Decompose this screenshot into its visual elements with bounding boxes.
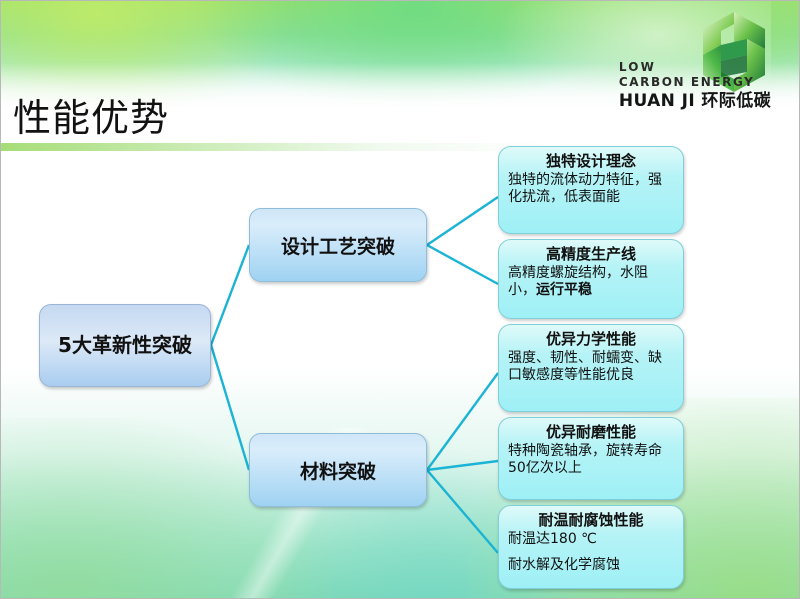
node-branch-material[interactable]: 材料突破 — [249, 433, 427, 507]
card-body: 强度、韧性、耐蠕变、缺口敏感度等性能优良 — [508, 350, 674, 383]
card-excellent-wear-resistance[interactable]: 优异耐磨性能 特种陶瓷轴承，旋转寿命50亿次以上 — [498, 417, 684, 500]
card-body: 独特的流体动力特征，强化扰流，低表面能 — [508, 172, 674, 205]
card-body: 耐温达180 ℃ 耐水解及化学腐蚀 — [508, 531, 674, 574]
card-title: 优异力学性能 — [508, 330, 674, 348]
card-title: 优异耐磨性能 — [508, 423, 674, 441]
card-body-line-2: 耐水解及化学腐蚀 — [508, 557, 674, 574]
card-body-line-1: 耐温达180 ℃ — [508, 531, 674, 548]
slide-canvas: LOW CARBON ENERGY HUAN JI 环际低碳 性能优势 5大革新… — [0, 0, 800, 599]
node-branch-design-process[interactable]: 设计工艺突破 — [249, 208, 427, 282]
card-high-precision-line[interactable]: 高精度生产线 高精度螺旋结构，水阻小，运行平稳 — [498, 239, 684, 319]
card-body-emphasis: 运行平稳 — [536, 282, 592, 298]
card-title: 独特设计理念 — [508, 152, 674, 170]
card-body: 高精度螺旋结构，水阻小，运行平稳 — [508, 265, 674, 298]
card-unique-design-concept[interactable]: 独特设计理念 独特的流体动力特征，强化扰流，低表面能 — [498, 146, 684, 234]
card-title: 耐温耐腐蚀性能 — [508, 511, 674, 529]
card-excellent-mechanical[interactable]: 优异力学性能 强度、韧性、耐蠕变、缺口敏感度等性能优良 — [498, 324, 684, 412]
card-title: 高精度生产线 — [508, 245, 674, 263]
node-root[interactable]: 5大革新性突破 — [39, 304, 211, 387]
card-body: 特种陶瓷轴承，旋转寿命50亿次以上 — [508, 443, 674, 476]
card-temperature-corrosion-resistance[interactable]: 耐温耐腐蚀性能 耐温达180 ℃ 耐水解及化学腐蚀 — [498, 505, 684, 589]
